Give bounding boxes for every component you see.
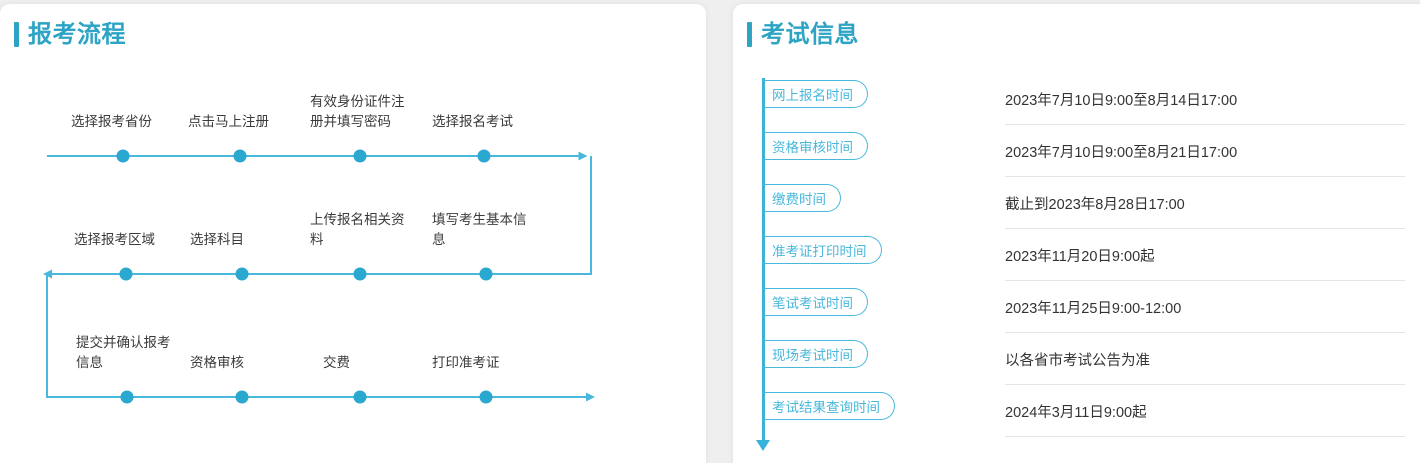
exam-info-row: 资格审核时间 2023年7月10日9:00至8月21日17:00 (752, 126, 1412, 178)
exam-info-row: 考试结果查询时间 2024年3月11日9:00起 (752, 386, 1412, 438)
exam-info-value: 2023年7月10日9:00至8月14日17:00 (1005, 74, 1405, 125)
flow-arrow-row2 (43, 270, 52, 279)
flow-step-label: 选择报考省份 (71, 112, 175, 132)
heading-accent-bar (747, 22, 752, 47)
exam-info-row: 笔试考试时间 2023年11月25日9:00-12:00 (752, 282, 1412, 334)
flow-dot (117, 150, 130, 163)
exam-info-label: 笔试考试时间 (764, 288, 868, 316)
page-root: 报考流程 (0, 0, 1420, 463)
exam-info-row: 缴费时间 截止到2023年8月28日17:00 (752, 178, 1412, 230)
exam-info-label: 现场考试时间 (764, 340, 868, 368)
exam-info-row: 准考证打印时间 2023年11月20日9:00起 (752, 230, 1412, 282)
flow-step-label: 提交并确认报考信息 (76, 333, 180, 373)
left-panel-title: 报考流程 (28, 23, 126, 47)
exam-info-list: 网上报名时间 2023年7月10日9:00至8月14日17:00 资格审核时间 … (752, 74, 1412, 438)
flow-dot (480, 268, 493, 281)
timeline-arrow-down-icon (756, 440, 770, 451)
flow-step-label: 交费 (323, 353, 427, 373)
flow-step-label: 选择报名考试 (432, 112, 536, 132)
flow-step-label: 上传报名相关资料 (310, 210, 414, 250)
flow-step-label: 选择科目 (190, 230, 294, 250)
registration-flow-card: 报考流程 (0, 4, 706, 463)
flow-step-label: 打印准考证 (432, 353, 536, 373)
exam-info-label: 准考证打印时间 (764, 236, 882, 264)
flow-dot (120, 268, 133, 281)
flow-step-label: 点击马上注册 (188, 112, 292, 132)
exam-info-value: 2024年3月11日9:00起 (1005, 386, 1405, 437)
exam-info-value: 截止到2023年8月28日17:00 (1005, 178, 1405, 229)
exam-info-row: 现场考试时间 以各省市考试公告为准 (752, 334, 1412, 386)
exam-info-value: 2023年11月20日9:00起 (1005, 230, 1405, 281)
flow-dot (354, 150, 367, 163)
flow-dot (236, 268, 249, 281)
flow-dot (121, 391, 134, 404)
flow-step-label: 填写考生基本信息 (432, 210, 536, 250)
flow-arrow-row3 (586, 393, 595, 402)
flow-dot (234, 150, 247, 163)
exam-info-value: 以各省市考试公告为准 (1005, 334, 1405, 385)
right-panel-title: 考试信息 (761, 23, 859, 47)
flow-dot (354, 391, 367, 404)
flow-dot (236, 391, 249, 404)
exam-info-value: 2023年11月25日9:00-12:00 (1005, 282, 1405, 333)
exam-info-label: 资格审核时间 (764, 132, 868, 160)
heading-accent-bar (14, 22, 19, 47)
left-panel-heading: 报考流程 (14, 22, 126, 47)
exam-info-label: 缴费时间 (764, 184, 841, 212)
flow-dot (354, 268, 367, 281)
exam-info-label: 网上报名时间 (764, 80, 868, 108)
exam-info-label: 考试结果查询时间 (764, 392, 895, 420)
flow-step-label: 资格审核 (190, 353, 294, 373)
flow-step-label: 有效身份证件注册并填写密码 (310, 92, 414, 132)
exam-info-row: 网上报名时间 2023年7月10日9:00至8月14日17:00 (752, 74, 1412, 126)
flow-dot (480, 391, 493, 404)
flow-step-label: 选择报考区域 (74, 230, 178, 250)
right-panel-heading: 考试信息 (747, 22, 859, 47)
exam-info-value: 2023年7月10日9:00至8月21日17:00 (1005, 126, 1405, 177)
flow-dot (478, 150, 491, 163)
